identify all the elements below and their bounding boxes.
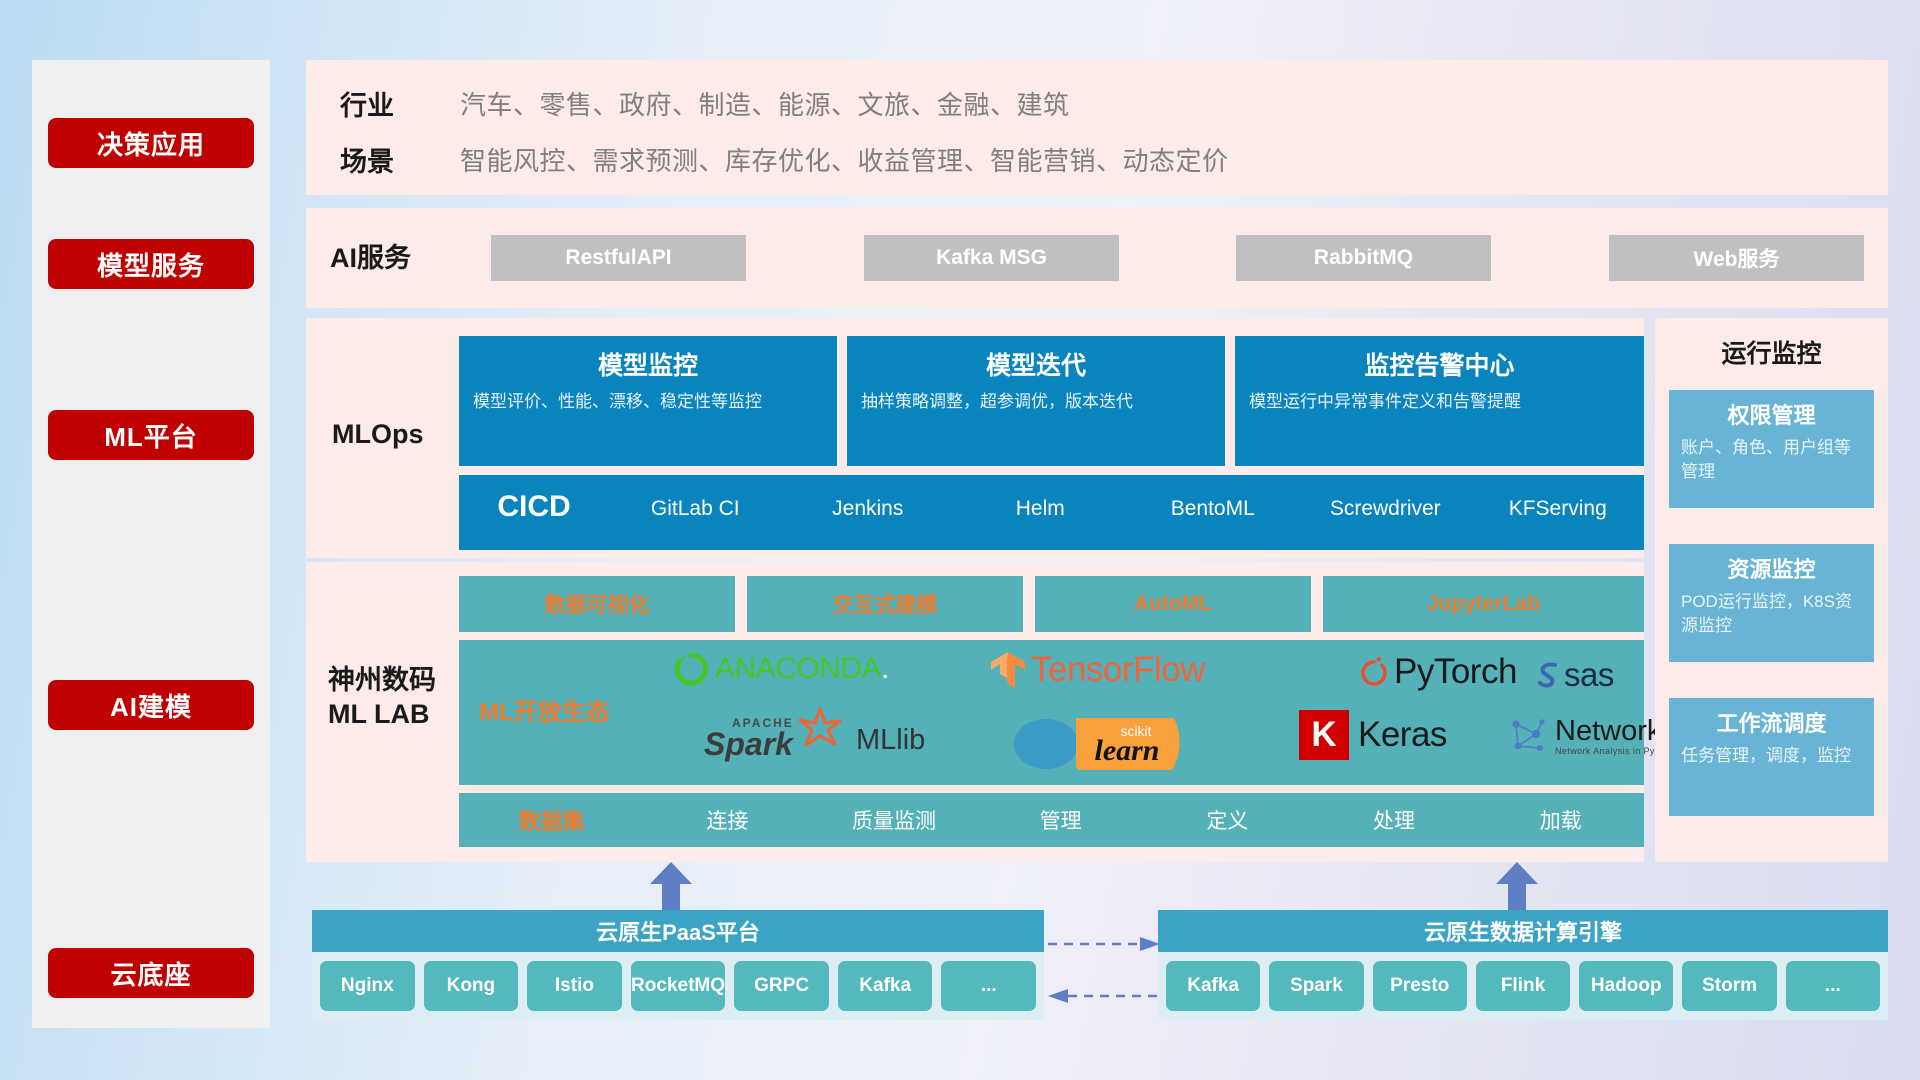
industry-row: 行业 汽车、零售、政府、制造、能源、文旅、金融、建筑 — [340, 84, 1070, 123]
mlops-card-alert-center[interactable]: 监控告警中心 模型运行中异常事件定义和告警提醒 — [1235, 336, 1644, 466]
anaconda-logo: ANACONDA . — [674, 652, 889, 686]
paas-chip-kong[interactable]: Kong — [424, 961, 519, 1011]
monitoring-band: 运行监控 权限管理 账户、角色、用户组等管理 资源监控 POD运行监控，K8S资… — [1655, 318, 1888, 862]
paas-chip-nginx[interactable]: Nginx — [320, 961, 415, 1011]
layer-rail: 决策应用 模型服务 ML平台 AI建模 云底座 — [32, 60, 270, 1028]
scikit-learn-logo: scikit learn — [1014, 714, 1204, 770]
paas-up-arrow-icon — [648, 862, 694, 912]
layer-chip-decision[interactable]: 决策应用 — [48, 118, 254, 168]
monitor-card-workflow[interactable]: 工作流调度 任务管理，调度，监控 — [1669, 698, 1874, 816]
scenario-value: 智能风控、需求预测、库存优化、收益管理、智能营销、动态定价 — [460, 141, 1229, 178]
networkx-mark-icon — [1506, 714, 1550, 758]
paas-chip-rocketmq[interactable]: RocketMQ — [631, 961, 726, 1011]
mlops-card-model-iteration[interactable]: 模型迭代 抽样策略调整，超参调优，版本迭代 — [847, 336, 1225, 466]
paas-chip-istio[interactable]: Istio — [527, 961, 622, 1011]
ml-lab-label: 神州数码 ML LAB — [328, 664, 436, 732]
tool-chip-data-visualization[interactable]: 数据可视化 — [459, 576, 735, 632]
spark-wordmark: Spark — [704, 726, 793, 763]
service-chip-kafka-msg[interactable]: Kafka MSG — [864, 235, 1119, 281]
layer-chip-ml-platform[interactable]: ML平台 — [48, 410, 254, 460]
anaconda-dot: . — [881, 652, 889, 686]
tensorflow-mark-icon — [989, 650, 1027, 690]
pytorch-wordmark: PyTorch — [1394, 652, 1517, 692]
compute-chip-storm[interactable]: Storm — [1682, 961, 1776, 1011]
tensorflow-logo: TensorFlow — [989, 650, 1205, 690]
spark-mllib-logo: APACHE Spark MLlib — [702, 712, 925, 768]
cicd-item-gitlab-ci[interactable]: GitLab CI — [609, 475, 782, 522]
svg-text:learn: learn — [1094, 734, 1159, 767]
anaconda-wordmark: ANACONDA — [715, 652, 881, 686]
tool-chip-automl[interactable]: AutoML — [1035, 576, 1311, 632]
card-desc: 抽样策略调整，超参调优，版本迭代 — [861, 390, 1211, 415]
compute-group: 云原生数据计算引擎 Kafka Spark Presto Flink Hadoo… — [1158, 910, 1888, 1020]
mlops-card-model-monitor[interactable]: 模型监控 模型评价、性能、漂移、稳定性等监控 — [459, 336, 837, 466]
cicd-bar: CICD GitLab CI Jenkins Helm BentoML Scre… — [459, 475, 1644, 550]
mlops-label: MLOps — [332, 418, 424, 452]
dataset-item-process[interactable]: 处理 — [1311, 805, 1478, 835]
dataset-title: 数据集 — [459, 804, 644, 836]
card-desc: 模型评价、性能、漂移、稳定性等监控 — [473, 390, 823, 415]
paas-chip-row: Nginx Kong Istio RocketMQ GRPC Kafka ... — [312, 952, 1044, 1020]
paas-group: 云原生PaaS平台 Nginx Kong Istio RocketMQ GRPC… — [312, 910, 1044, 1020]
cicd-item-screwdriver[interactable]: Screwdriver — [1299, 475, 1472, 522]
mlops-band: MLOps 模型监控 模型评价、性能、漂移、稳定性等监控 模型迭代 抽样策略调整… — [306, 318, 1644, 558]
service-chip-restfulapi[interactable]: RestfulAPI — [491, 235, 746, 281]
card-title: 监控告警中心 — [1249, 346, 1630, 382]
pytorch-mark-icon — [1359, 655, 1389, 689]
dataset-item-manage[interactable]: 管理 — [977, 805, 1144, 835]
card-desc: 任务管理，调度，监控 — [1681, 744, 1862, 768]
industry-label: 行业 — [340, 84, 460, 123]
tool-chip-interactive-modeling[interactable]: 交互式建模 — [747, 576, 1023, 632]
applications-band: 行业 汽车、零售、政府、制造、能源、文旅、金融、建筑 场景 智能风控、需求预测、… — [306, 60, 1888, 195]
compute-chip-kafka[interactable]: Kafka — [1166, 961, 1260, 1011]
monitoring-title: 运行监控 — [1655, 334, 1888, 370]
paas-chip-more[interactable]: ... — [941, 961, 1036, 1011]
sas-mark-icon — [1534, 660, 1562, 690]
anaconda-mark-icon — [674, 652, 708, 686]
scikit-learn-mark-icon: scikit learn — [1014, 714, 1204, 770]
cicd-item-helm[interactable]: Helm — [954, 475, 1127, 522]
layer-chip-model-service[interactable]: 模型服务 — [48, 239, 254, 289]
sas-logo: sas — [1534, 656, 1614, 694]
compute-title: 云原生数据计算引擎 — [1158, 910, 1888, 952]
link-arrow-left-icon — [1048, 988, 1160, 1009]
card-desc: POD运行监控，K8S资源监控 — [1681, 590, 1862, 638]
card-title: 模型迭代 — [861, 346, 1211, 382]
tensorflow-wordmark: TensorFlow — [1031, 650, 1205, 690]
service-chip-rabbitmq[interactable]: RabbitMQ — [1236, 235, 1491, 281]
paas-chip-kafka[interactable]: Kafka — [838, 961, 933, 1011]
card-desc: 模型运行中异常事件定义和告警提醒 — [1249, 390, 1630, 415]
pytorch-logo: PyTorch — [1359, 652, 1517, 692]
compute-chip-flink[interactable]: Flink — [1476, 961, 1570, 1011]
keras-logo: K Keras — [1299, 710, 1447, 760]
card-title: 资源监控 — [1681, 552, 1862, 584]
service-chip-web-service[interactable]: Web服务 — [1609, 235, 1864, 281]
compute-chip-hadoop[interactable]: Hadoop — [1579, 961, 1673, 1011]
monitor-card-resource[interactable]: 资源监控 POD运行监控，K8S资源监控 — [1669, 544, 1874, 662]
scenario-label: 场景 — [340, 140, 460, 179]
ml-ecosystem-box: ML开放生态 ANACONDA . TensorFlow — [459, 640, 1644, 785]
compute-chip-spark[interactable]: Spark — [1269, 961, 1363, 1011]
compute-chip-row: Kafka Spark Presto Flink Hadoop Storm ..… — [1158, 952, 1888, 1020]
keras-wordmark: Keras — [1358, 715, 1447, 755]
dataset-item-connect[interactable]: 连接 — [644, 805, 811, 835]
industry-value: 汽车、零售、政府、制造、能源、文旅、金融、建筑 — [460, 85, 1070, 122]
keras-mark-icon: K — [1299, 710, 1349, 760]
ai-service-band: AI服务 RestfulAPI Kafka MSG RabbitMQ Web服务 — [306, 208, 1888, 308]
link-arrow-right-icon — [1048, 936, 1160, 957]
cicd-item-kfserving[interactable]: KFServing — [1472, 475, 1645, 522]
compute-chip-presto[interactable]: Presto — [1373, 961, 1467, 1011]
dataset-item-define[interactable]: 定义 — [1144, 805, 1311, 835]
compute-chip-more[interactable]: ... — [1786, 961, 1880, 1011]
cicd-item-bentoml[interactable]: BentoML — [1127, 475, 1300, 522]
mllib-wordmark: MLlib — [856, 724, 925, 757]
monitor-card-permission[interactable]: 权限管理 账户、角色、用户组等管理 — [1669, 390, 1874, 508]
dataset-item-quality[interactable]: 质量监测 — [811, 805, 978, 835]
dataset-bar: 数据集 连接 质量监测 管理 定义 处理 加载 — [459, 793, 1644, 847]
ai-service-label: AI服务 — [330, 242, 411, 276]
ml-lab-band: 神州数码 ML LAB 数据可视化 交互式建模 AutoML JupyterLa… — [306, 562, 1644, 862]
ml-ecosystem-title: ML开放生态 — [479, 692, 610, 727]
card-desc: 账户、角色、用户组等管理 — [1681, 436, 1862, 484]
sas-wordmark: sas — [1564, 656, 1614, 694]
tool-chip-jupyterlab[interactable]: JupyterLab — [1323, 576, 1644, 632]
layer-chip-ai-modeling[interactable]: AI建模 — [48, 680, 254, 730]
card-title: 模型监控 — [473, 346, 823, 382]
cicd-title: CICD — [459, 475, 609, 524]
scenario-row: 场景 智能风控、需求预测、库存优化、收益管理、智能营销、动态定价 — [340, 140, 1229, 179]
spark-star-icon — [797, 706, 843, 752]
paas-chip-grpc[interactable]: GRPC — [734, 961, 829, 1011]
paas-title: 云原生PaaS平台 — [312, 910, 1044, 952]
card-title: 权限管理 — [1681, 398, 1862, 430]
layer-chip-cloud-base[interactable]: 云底座 — [48, 948, 254, 998]
card-title: 工作流调度 — [1681, 706, 1862, 738]
dataset-item-load[interactable]: 加载 — [1477, 805, 1644, 835]
cicd-item-jenkins[interactable]: Jenkins — [782, 475, 955, 522]
compute-up-arrow-icon — [1494, 862, 1540, 912]
